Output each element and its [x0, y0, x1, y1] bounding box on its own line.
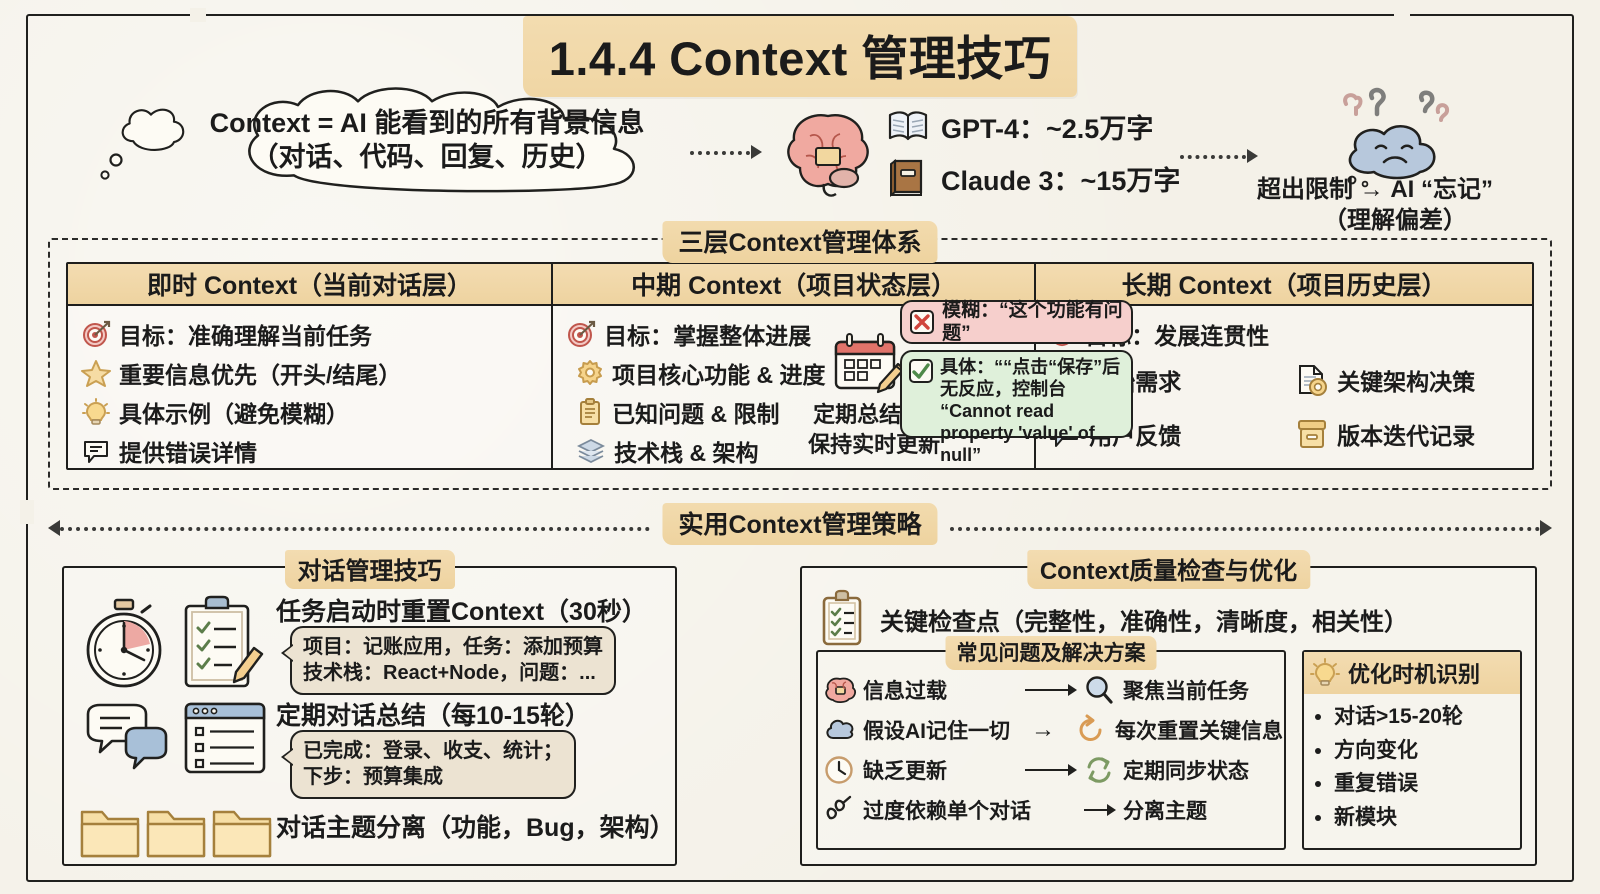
item-label: 关键架构决策	[1337, 363, 1475, 397]
model-label-gpt4: GPT-4：~2.5万字	[941, 107, 1153, 146]
cloud-icon	[824, 718, 856, 742]
bubble-periodic-summary: 已完成：登录、收支、统计； 下步：预算集成	[290, 730, 576, 799]
arrow-icon	[1025, 684, 1077, 696]
brain-icon	[780, 106, 876, 202]
panel-quality-check: Context质量检查与优化 关键检查点（完整性，准确性，清晰度，相关性） 常见…	[800, 566, 1537, 866]
arrow-icon	[1025, 764, 1077, 776]
item-label: 目标：准确理解当前任务	[119, 317, 372, 351]
item-label: 版本迭代记录	[1337, 417, 1475, 451]
definition-text: Context = AI 能看到的所有背景信息 （对话、代码、回复、历史）	[192, 86, 662, 196]
clipboard-pencil-icon	[176, 596, 264, 692]
tip-periodic-summary-label: 定期对话总结（每10-15轮）	[276, 696, 590, 732]
panel-conversation-management: 对话管理技巧 任务启动时重置Context（30秒）	[62, 566, 677, 866]
cross-icon	[910, 310, 934, 334]
stopwatch-icon	[82, 598, 168, 690]
item-label: 提供错误详情	[119, 434, 257, 468]
problem-row: 信息过载 聚焦当前任务	[818, 670, 1284, 710]
tip-topic-separation: 对话主题分离（功能，Bug，架构）	[276, 808, 675, 844]
calendar-pencil-icon	[830, 332, 906, 398]
limit-line-2: （理解偏差）	[1225, 205, 1525, 236]
list-item: 新模块	[1334, 801, 1520, 835]
model-row-claude3: Claude 3：~15万字	[888, 152, 1180, 204]
problem-label: 缺乏更新	[863, 755, 1018, 785]
problem-label: 过度依赖单个对话	[863, 795, 1077, 825]
layers-icon	[577, 438, 605, 464]
column-midterm-context: 中期 Context（项目状态层） 目标：掌握整体进展	[551, 264, 1034, 468]
chat-bubbles-icon	[82, 702, 174, 778]
solution-label: 分离主题	[1123, 795, 1278, 825]
definition-line-2: （对话、代码、回复、历史）	[252, 141, 603, 175]
clock-icon	[824, 755, 856, 785]
section1-container: 即时 Context（当前对话层） 目标：准确理解当前	[48, 238, 1552, 490]
section1-label: 三层Context管理体系	[662, 221, 937, 263]
subpanel-optimization-timing: 优化时机识别 对话>15-20轮 方向变化 重复错误 新模块	[1302, 650, 1522, 850]
tip-periodic-summary: 定期对话总结（每10-15轮）	[276, 696, 590, 732]
sync-green-icon	[1084, 755, 1116, 785]
callout-vague-example: 模糊：“这个功能有问题”	[900, 300, 1133, 344]
panel-right-label: Context质量检查与优化	[1027, 550, 1310, 589]
window-list-icon	[182, 700, 268, 776]
definition-line-1: Context = AI 能看到的所有背景信息	[210, 107, 645, 141]
model-label-claude3: Claude 3：~15万字	[941, 159, 1180, 198]
three-layer-table: 即时 Context（当前对话层） 目标：准确理解当前	[66, 262, 1534, 470]
poster-canvas: 1.4.4 Context 管理技巧 Context = AI 能看到的所有背景…	[0, 0, 1600, 894]
closed-book-icon	[888, 158, 928, 198]
bubble-reset-context: 项目：记账应用，任务：添加预算 技术栈：React+Node，问题：...	[290, 626, 616, 695]
panel-left-label: 对话管理技巧	[285, 550, 455, 589]
problem-label: 假设AI记住一切	[863, 715, 1010, 745]
bubble-periodic-summary-body: 已完成：登录、收支、统计； 下步：预算集成	[290, 730, 576, 799]
tip-reset-context: 任务启动时重置Context（30秒）	[276, 592, 647, 628]
title-container: 1.4.4 Context 管理技巧	[0, 16, 1600, 97]
top-row: Context = AI 能看到的所有背景信息 （对话、代码、回复、历史）	[40, 86, 1560, 226]
solution-label: 每次重置关键信息	[1115, 715, 1283, 745]
item-longterm-version-history: 版本迭代记录	[1284, 407, 1532, 461]
solution-label: 聚焦当前任务	[1123, 675, 1278, 705]
open-book-icon	[888, 109, 928, 143]
bubble-reset-context-body: 项目：记账应用，任务：添加预算 技术栈：React+Node，问题：...	[290, 626, 616, 695]
checklist-clipboard-icon	[818, 590, 866, 648]
timing-header: 优化时机识别	[1304, 652, 1520, 694]
item-immediate-priority: 重要信息优先（开头/结尾）	[68, 353, 551, 392]
item-immediate-examples: 具体示例（避免模糊）	[68, 392, 551, 431]
page-title: 1.4.4 Context 管理技巧	[523, 16, 1078, 97]
archive-box-icon	[1296, 418, 1328, 450]
checkpoint-label: 关键检查点（完整性，准确性，清晰度，相关性）	[880, 602, 1408, 637]
item-longterm-key-decisions: 关键架构决策	[1284, 353, 1532, 407]
section2-label: 实用Context管理策略	[662, 503, 937, 545]
star-icon	[82, 359, 110, 387]
check-icon	[909, 357, 933, 383]
problem-row: 假设AI记住一切 → 每次重置关键信息	[818, 710, 1284, 750]
limit-line-1: 超出限制 → AI “忘记”	[1225, 174, 1525, 205]
item-label: 目标：掌握整体进展	[604, 317, 811, 351]
target-icon	[567, 320, 595, 348]
item-label: 项目核心功能 & 进度	[612, 356, 825, 390]
bubble-summary-line-2: 下步：预算集成	[303, 764, 563, 790]
callout-vague-label: 模糊：“这个功能有问题”	[942, 299, 1123, 345]
subpanel-problems-label: 常见问题及解决方案	[946, 636, 1157, 670]
arrow-icon: →	[1017, 716, 1069, 744]
frame-gap-left	[20, 500, 34, 524]
list-item: 方向变化	[1334, 734, 1520, 768]
limit-warning-text: 超出限制 → AI “忘记” （理解偏差）	[1225, 174, 1525, 236]
comment-icon	[82, 437, 110, 465]
link-icon	[824, 796, 856, 824]
subpanel-common-problems: 常见问题及解决方案 信息过载 聚焦当前任务	[816, 650, 1286, 850]
callout-concrete-label: 具体：““点击“保存”后无反应，控制台 “Cannot read propert…	[940, 357, 1124, 467]
timing-item-list: 对话>15-20轮 方向变化 重复错误 新模块	[1304, 700, 1520, 834]
problem-label: 信息过载	[863, 675, 1018, 705]
model-capacity-list: GPT-4：~2.5万字 Claude 3：~15万字	[888, 100, 1180, 204]
arrow-icon	[1084, 804, 1116, 816]
gear-icon	[577, 360, 603, 386]
brain-icon	[824, 677, 856, 703]
column-header-immediate: 即时 Context（当前对话层）	[68, 264, 551, 306]
clipboard-icon	[577, 398, 603, 426]
magnifier-icon	[1084, 675, 1116, 705]
column-immediate-context: 即时 Context（当前对话层） 目标：准确理解当前	[68, 264, 551, 468]
tip-topic-separation-label: 对话主题分离（功能，Bug，架构）	[276, 808, 675, 844]
definition-cloud: Context = AI 能看到的所有背景信息 （对话、代码、回复、历史）	[192, 86, 662, 196]
model-row-gpt4: GPT-4：~2.5万字	[888, 100, 1180, 152]
bubble-reset-line-2: 技术栈：React+Node，问题：...	[303, 660, 603, 686]
thought-dots-icon	[96, 148, 136, 188]
bubble-summary-line-1: 已完成：登录、收支、统计；	[303, 738, 563, 764]
target-icon	[82, 320, 110, 348]
item-label: 具体示例（避免模糊）	[119, 395, 349, 429]
document-gear-icon	[1296, 363, 1328, 397]
folders-icon	[78, 800, 278, 862]
bubble-reset-line-1: 项目：记账应用，任务：添加预算	[303, 634, 603, 660]
lightbulb-icon	[1310, 657, 1340, 689]
list-item: 重复错误	[1334, 767, 1520, 801]
tip-reset-context-label: 任务启动时重置Context（30秒）	[276, 592, 647, 628]
item-label: 已知问题 & 限制	[612, 395, 779, 429]
list-item: 对话>15-20轮	[1334, 700, 1520, 734]
item-immediate-error-detail: 提供错误详情	[68, 431, 551, 470]
arrow-models-to-limit	[1180, 148, 1258, 164]
item-label: 重要信息优先（开头/结尾）	[119, 356, 401, 390]
refresh-orange-icon	[1076, 715, 1108, 745]
solution-label: 定期同步状态	[1123, 755, 1278, 785]
item-immediate-goal: 目标：准确理解当前任务	[68, 314, 551, 353]
lightbulb-icon	[82, 398, 110, 426]
arrow-cloud-to-brain	[690, 144, 762, 160]
timing-label: 优化时机识别	[1348, 657, 1480, 689]
column-body-immediate: 目标：准确理解当前任务 重要信息优先（开头/结尾）	[68, 306, 551, 476]
problem-row: 过度依赖单个对话 分离主题	[818, 790, 1284, 830]
problem-row: 缺乏更新 定期同步状态	[818, 750, 1284, 790]
item-label: 技术栈 & 架构	[614, 434, 758, 468]
callout-concrete-example: 具体：““点击“保存”后无反应，控制台 “Cannot read propert…	[900, 350, 1133, 438]
